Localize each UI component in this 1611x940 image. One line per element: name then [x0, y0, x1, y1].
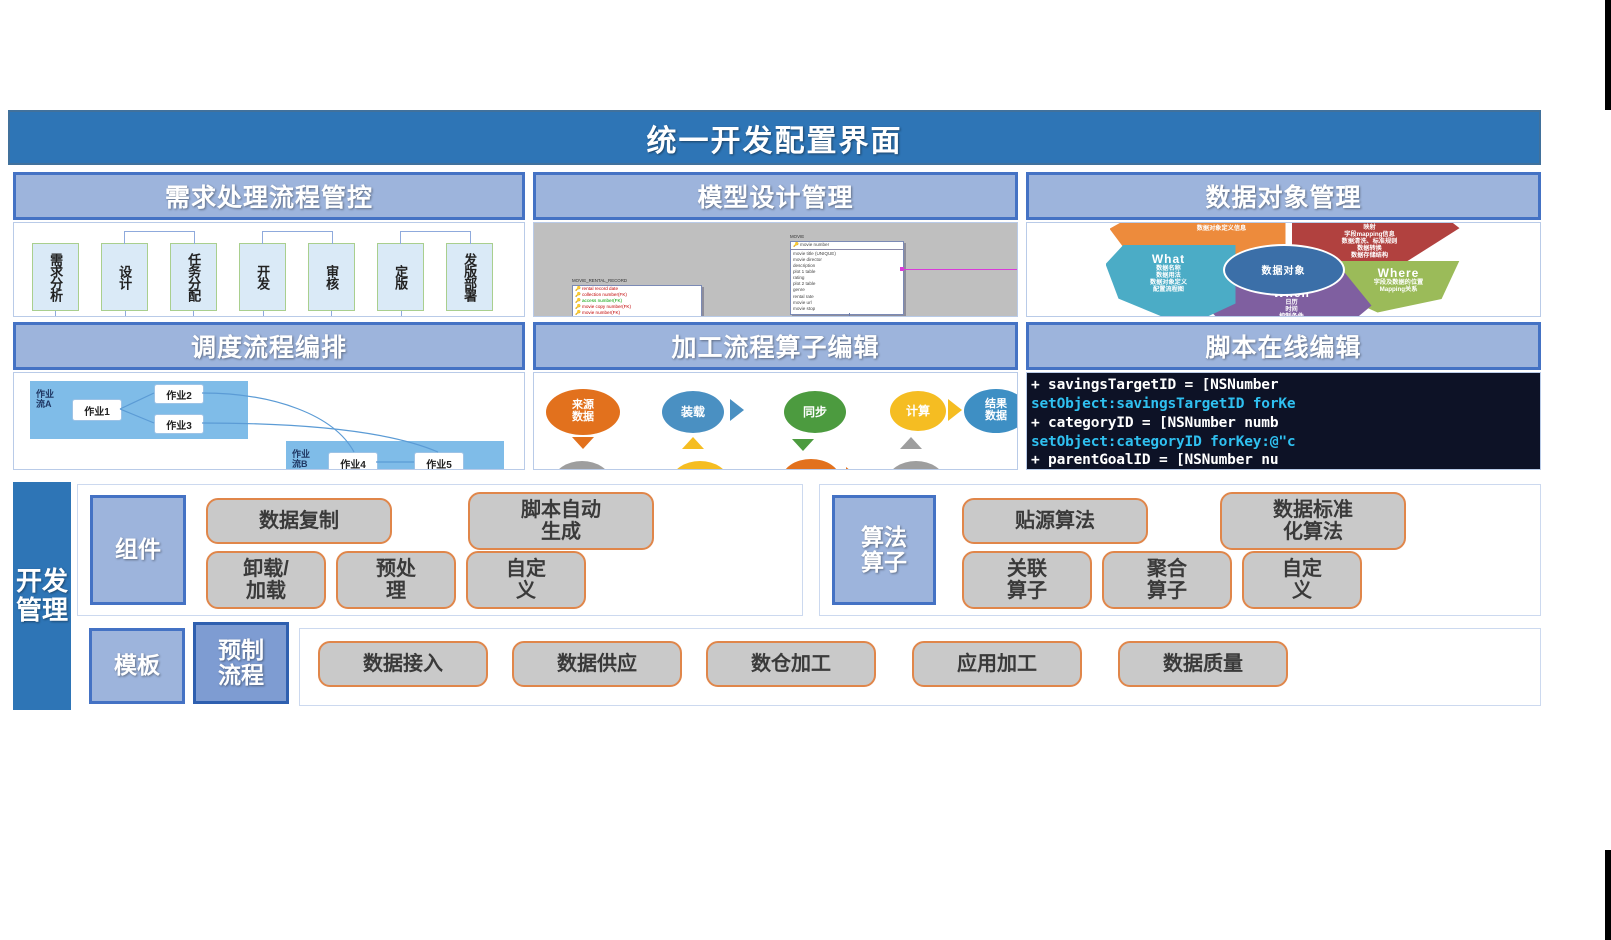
- requirement-step-label: 任务分配: [187, 253, 200, 301]
- panel-header-script-label: 脚本在线编辑: [1205, 328, 1361, 364]
- code-line: setObject:savingsTargetID forKe: [1031, 395, 1540, 414]
- category-preset-flow[interactable]: 预制流程: [193, 622, 289, 704]
- screen-edge-bottom-right: [1605, 850, 1611, 940]
- chip-custom-component[interactable]: 自定义: [466, 551, 586, 609]
- panel-header-scheduling-label: 调度流程编排: [191, 328, 347, 364]
- requirement-flow-diagram: 需求分析设计任务分配开发审核定版发版部署: [32, 229, 507, 317]
- operator-arrow-down: [792, 439, 814, 451]
- dev-row-templates: 模板 预制流程 数据接入 数据供应 数仓加工 应用加工 数据质量: [77, 622, 1541, 708]
- panel-body-script: + savingsTargetID = [NSNumbersetObject:s…: [1026, 372, 1541, 470]
- page-title-bar: 统一开发配置界面: [8, 110, 1541, 165]
- operator-arrow-right: [622, 469, 635, 470]
- chip-custom-operator[interactable]: 自定义: [1242, 551, 1362, 609]
- pie-label-what: What 数据名称数据用法数据对象定义配置流程图: [1114, 253, 1224, 294]
- operator-arrow-right: [730, 399, 744, 421]
- chip-script-auto-generate[interactable]: 脚本自动生成: [468, 492, 654, 550]
- code-line: setObject:categoryID forKey:@"c: [1031, 433, 1540, 452]
- operator-flow-diagram: 来源数据装载同步计算结果数据采集处理聚合汇总: [534, 373, 1017, 469]
- operator-arrow-up: [900, 437, 922, 449]
- panel-header-requirement-label: 需求处理流程管控: [165, 178, 373, 214]
- operator-node-top-5[interactable]: 结果数据: [964, 389, 1018, 433]
- dev-management-section: 开发管理 组件 数据复制 脚本自动生成 卸载/加载 预处理 自定义 算法算子 贴…: [13, 482, 1541, 710]
- panel-body-operator: 来源数据装载同步计算结果数据采集处理聚合汇总: [533, 372, 1018, 470]
- er-entity-box: 🔑 rental record date 🔑 collection number…: [572, 285, 702, 317]
- requirement-connector: [262, 231, 333, 244]
- requirement-connector: [400, 231, 471, 244]
- operator-arrow-up: [682, 437, 704, 449]
- panel-header-dataobject-label: 数据对象管理: [1205, 178, 1361, 214]
- chip-standardization-algorithm[interactable]: 数据标准化算法: [1220, 492, 1406, 550]
- code-line: + categoryID = [NSNumber numb: [1031, 414, 1540, 433]
- components-group: 组件 数据复制 脚本自动生成 卸载/加载 预处理 自定义: [77, 484, 803, 616]
- er-entity-title: MOVIE_RENTAL_RECORD: [572, 278, 627, 284]
- category-components-label: 组件: [115, 537, 161, 562]
- panel-header-script: 脚本在线编辑: [1026, 322, 1541, 370]
- er-entity-box: 🔑 movie number movie title (UNIQUE) movi…: [790, 241, 904, 315]
- panel-data-object: 数据对象管理 Who 数据对象定义信息 How 处理数据的方式及业务规则映射字段…: [1026, 172, 1541, 317]
- chip-source-algorithm[interactable]: 贴源算法: [962, 498, 1148, 544]
- panel-model-design: 模型设计管理 🔑 rental record date 🔑 collection…: [533, 172, 1018, 317]
- chip-preprocess[interactable]: 预处理: [336, 551, 456, 609]
- panel-script-editor: 脚本在线编辑 + savingsTargetID = [NSNumbersetO…: [1026, 322, 1541, 470]
- dev-management-sidebar: 开发管理: [13, 482, 71, 710]
- requirement-connector: [331, 311, 402, 317]
- er-connector-dot: [900, 267, 904, 271]
- category-algorithm-operators-label: 算法算子: [861, 525, 907, 576]
- panel-body-model: 🔑 rental record date 🔑 collection number…: [533, 222, 1018, 317]
- chip-warehouse-process[interactable]: 数仓加工: [706, 641, 876, 687]
- panel-header-requirement: 需求处理流程管控: [13, 172, 525, 220]
- requirement-step-1[interactable]: 需求分析: [32, 243, 79, 311]
- pie-center-label: 数据对象: [1223, 244, 1345, 296]
- panel-scheduling: 调度流程编排 作业流A 作业1 作业2 作业3 作业流B 作业4 作业5 作业流…: [13, 322, 525, 470]
- chip-data-quality[interactable]: 数据质量: [1118, 641, 1288, 687]
- code-editor-content[interactable]: + savingsTargetID = [NSNumbersetObject:s…: [1027, 373, 1540, 469]
- operator-node-bottom-2[interactable]: 处理: [672, 461, 728, 470]
- requirement-connector: [124, 231, 195, 244]
- requirement-step-7[interactable]: 发版部署: [446, 243, 493, 311]
- requirement-step-6[interactable]: 定版: [377, 243, 424, 311]
- panel-header-model-label: 模型设计管理: [697, 178, 853, 214]
- er-connector: [902, 269, 1018, 270]
- screen-edge-top-right: [1605, 0, 1611, 110]
- scheduling-connectors: [14, 373, 525, 470]
- pie-label-where: Where 字段及数据的位置Mapping关系: [1344, 267, 1454, 294]
- category-preset-flow-label: 预制流程: [218, 638, 264, 689]
- requirement-step-label: 设计: [118, 265, 131, 289]
- requirement-step-label: 需求分析: [49, 253, 62, 301]
- dev-management-label: 开发管理: [16, 567, 68, 625]
- requirement-step-label: 开发: [256, 265, 269, 289]
- requirement-step-3[interactable]: 任务分配: [170, 243, 217, 311]
- panel-header-operator: 加工流程算子编辑: [533, 322, 1018, 370]
- er-connector: [849, 313, 850, 317]
- category-components[interactable]: 组件: [90, 495, 186, 605]
- chip-join-operator[interactable]: 关联算子: [962, 551, 1092, 609]
- code-line: + parentGoalID = [NSNumber nu: [1031, 451, 1540, 469]
- panel-body-dataobject: Who 数据对象定义信息 How 处理数据的方式及业务规则映射字段mapping…: [1026, 222, 1541, 317]
- unified-dev-config-diagram: 统一开发配置界面 需求处理流程管控 需求分析设计任务分配开发审核定版发版部署 模…: [3, 110, 1600, 850]
- panel-header-model: 模型设计管理: [533, 172, 1018, 220]
- pie-label-who-lines: 数据对象定义信息: [1162, 226, 1282, 233]
- panel-requirement-flow: 需求处理流程管控 需求分析设计任务分配开发审核定版发版部署: [13, 172, 525, 317]
- er-entity-title: MOVIE: [790, 234, 804, 240]
- er-diagram-screenshot: 🔑 rental record date 🔑 collection number…: [534, 223, 1017, 316]
- chip-unload-load[interactable]: 卸载/加载: [206, 551, 326, 609]
- panel-body-scheduling: 作业流A 作业1 作业2 作业3 作业流B 作业4 作业5 作业流C 作业6: [13, 372, 525, 470]
- scheduling-diagram: 作业流A 作业1 作业2 作业3 作业流B 作业4 作业5 作业流C 作业6: [14, 373, 524, 469]
- data-object-pie-chart: Who 数据对象定义信息 How 处理数据的方式及业务规则映射字段mapping…: [1104, 222, 1464, 317]
- category-template-label: 模板: [114, 653, 160, 678]
- requirement-step-5[interactable]: 审核: [308, 243, 355, 311]
- requirement-step-label: 审核: [325, 265, 338, 289]
- er-field: movie stop: [791, 306, 903, 312]
- chip-app-process[interactable]: 应用加工: [912, 641, 1082, 687]
- panel-operator-editor: 加工流程算子编辑 来源数据装载同步计算结果数据采集处理聚合汇总: [533, 322, 1018, 470]
- category-algorithm-operators[interactable]: 算法算子: [832, 495, 936, 605]
- er-field: 🔑 employee phone (FK): [573, 316, 701, 317]
- operator-node-bottom-3[interactable]: 聚合: [782, 459, 840, 470]
- panel-header-scheduling: 调度流程编排: [13, 322, 525, 370]
- requirement-step-4[interactable]: 开发: [239, 243, 286, 311]
- panel-header-operator-label: 加工流程算子编辑: [671, 328, 879, 364]
- chip-data-replication[interactable]: 数据复制: [206, 498, 392, 544]
- operator-arrow-right: [948, 399, 962, 421]
- preset-flow-chip-group: 数据接入 数据供应 数仓加工 应用加工 数据质量: [299, 628, 1541, 706]
- dev-row-components: 组件 数据复制 脚本自动生成 卸载/加载 预处理 自定义 算法算子 贴源算法 数…: [77, 484, 1541, 616]
- operator-arrow-down: [572, 437, 594, 449]
- requirement-connector: [193, 311, 264, 317]
- requirement-step-2[interactable]: 设计: [101, 243, 148, 311]
- chip-aggregate-operator[interactable]: 聚合算子: [1102, 551, 1232, 609]
- chip-data-supply[interactable]: 数据供应: [512, 641, 682, 687]
- operator-node-bottom-1[interactable]: 采集: [554, 461, 610, 470]
- operator-node-top-3[interactable]: 同步: [784, 391, 846, 433]
- category-template[interactable]: 模板: [89, 628, 185, 704]
- er-field: 🔑 movie number: [791, 242, 903, 248]
- requirement-connector: [55, 311, 126, 317]
- code-line: + savingsTargetID = [NSNumber: [1031, 376, 1540, 395]
- pie-label-when-lines: 日历时间控制条件: [1232, 300, 1352, 317]
- operator-node-top-2[interactable]: 装载: [662, 391, 724, 433]
- requirement-step-label: 定版: [394, 265, 407, 289]
- pie-label-what-lines: 数据名称数据用法数据对象定义配置流程图: [1114, 266, 1224, 294]
- page-title: 统一开发配置界面: [647, 116, 903, 160]
- requirement-step-label: 发版部署: [463, 253, 476, 301]
- operator-arrow-right: [846, 467, 860, 470]
- operator-node-top-1[interactable]: 来源数据: [546, 389, 620, 435]
- panel-header-dataobject: 数据对象管理: [1026, 172, 1541, 220]
- operator-node-bottom-4[interactable]: 汇总: [888, 461, 944, 470]
- operator-node-top-4[interactable]: 计算: [890, 391, 946, 431]
- pie-label-who: Who 数据对象定义信息: [1162, 222, 1282, 233]
- panel-body-requirement: 需求分析设计任务分配开发审核定版发版部署: [13, 222, 525, 317]
- chip-data-ingest[interactable]: 数据接入: [318, 641, 488, 687]
- algorithm-group: 算法算子 贴源算法 数据标准化算法 关联算子 聚合算子 自定义: [819, 484, 1541, 616]
